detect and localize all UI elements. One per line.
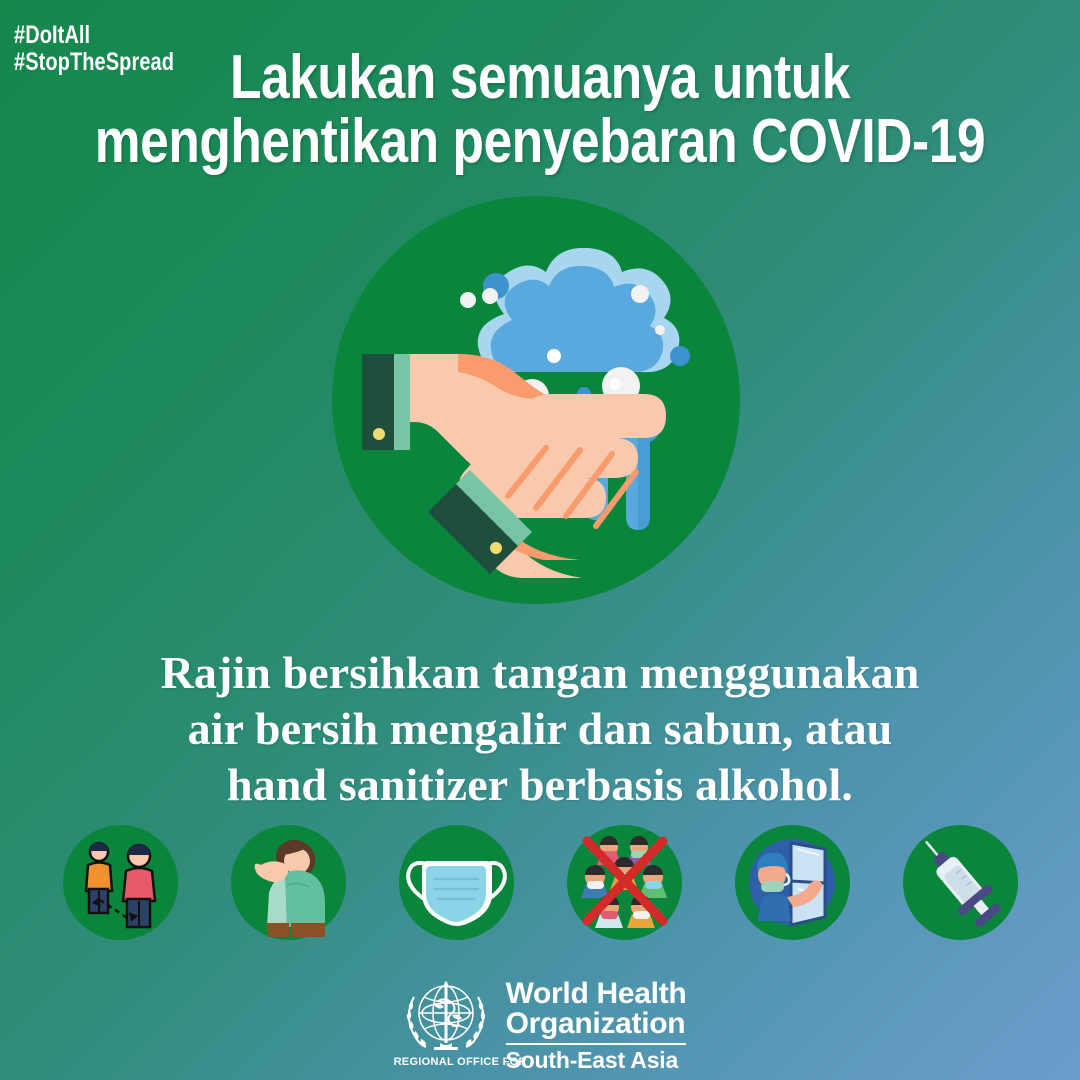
headline-line-2: menghentikan penyebaran COVID-19 [92, 110, 988, 174]
body-line-3: hand sanitizer berbasis alkohol. [60, 757, 1020, 813]
ventilate-room-icon [735, 825, 850, 940]
back-sleeve-cuff [362, 354, 410, 450]
handwashing-illustration [332, 196, 740, 604]
who-logo: World Health Organization South-East Asi… [0, 975, 1080, 1072]
who-regional-office-label: REGIONAL OFFICE FOR [394, 1056, 527, 1068]
hashtag-stop-the-spread: #StopTheSpread [14, 49, 174, 76]
prevention-icons-row [0, 823, 1080, 941]
who-region: South-East Asia [506, 1048, 687, 1072]
face-mask-icon [399, 825, 514, 940]
campaign-hashtags: #DoItAll #StopTheSpread [14, 22, 174, 75]
body-line-2: air bersih mengalir dan sabun, atau [60, 701, 1020, 757]
vaccine-syringe-icon [903, 825, 1018, 940]
who-covid-poster: #DoItAll #StopTheSpread Lakukan semuanya… [0, 0, 1080, 1080]
body-line-1: Rajin bersihkan tangan menggunakan [60, 645, 1020, 701]
person-right [123, 844, 155, 927]
who-name-line-1: World Health [506, 979, 687, 1009]
headline-line-1: Lakukan semuanya untuk [92, 46, 988, 110]
body-text: Rajin bersihkan tangan menggunakan air b… [60, 645, 1020, 813]
who-divider [506, 1043, 687, 1045]
physical-distancing-icon [63, 825, 178, 940]
who-emblem-icon [394, 975, 498, 1063]
who-name-line-2: Organization [506, 1009, 687, 1039]
cough-into-elbow-icon [231, 825, 346, 940]
avoid-crowds-icon [567, 825, 682, 940]
hashtag-do-it-all: #DoItAll [14, 22, 174, 49]
